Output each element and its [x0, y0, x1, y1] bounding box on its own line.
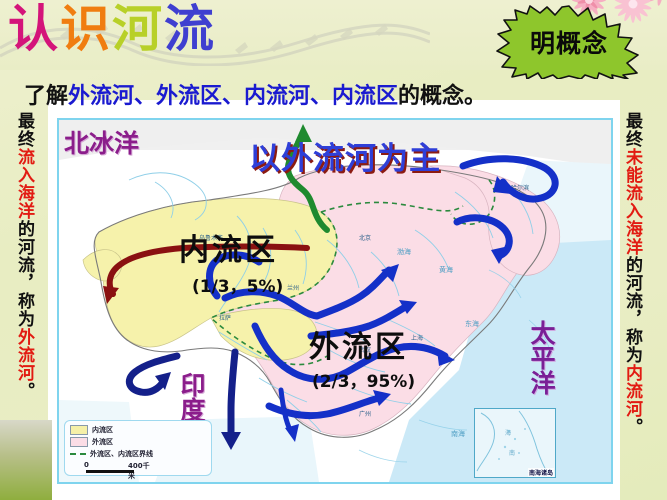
title-char-3: 河 — [112, 4, 164, 54]
caption-right-p3: 的河流，称为 — [622, 256, 642, 364]
caption-right-p4: 内流河 — [622, 364, 642, 418]
caption-exterior-river: 最终流入海洋的河流，称为外流河。 — [14, 112, 34, 494]
caption-right-p1: 最终 — [622, 112, 642, 148]
svg-text:渤海: 渤海 — [397, 247, 411, 256]
svg-text:拉萨: 拉萨 — [219, 314, 231, 322]
legend-label-boundary: 外流区、内流区界线 — [90, 449, 153, 459]
subtitle-objective: 了解外流河、外流区、内流河、内流区的概念。 — [24, 78, 486, 110]
legend-scale-numbers: 0 400千米 — [84, 461, 154, 473]
legend-item-boundary: 外流区、内流区界线 — [70, 449, 206, 458]
subtitle-highlight: 外流河、外流区、内流河、内流区 — [68, 84, 398, 109]
svg-text:南: 南 — [509, 449, 515, 457]
svg-text:武汉: 武汉 — [359, 346, 371, 354]
caption-left-p1: 最终 — [14, 112, 34, 148]
badge-ming-gainian[interactable]: 明概念 — [489, 5, 649, 79]
caption-left-p3: 的河流，称为 — [14, 220, 34, 328]
svg-text:东海: 东海 — [465, 319, 479, 328]
svg-text:黄海: 黄海 — [439, 265, 453, 274]
inset-graphic: 海 南 — [475, 409, 555, 477]
legend-dashed-line-icon — [70, 453, 86, 455]
caption-right-p2: 未能流入海洋 — [622, 148, 642, 256]
legend-label-interior: 内流区 — [92, 425, 113, 435]
svg-text:北京: 北京 — [359, 234, 371, 242]
caption-left-p5: 。 — [14, 382, 34, 400]
legend-item-interior: 内流区 — [70, 425, 206, 434]
svg-text:海: 海 — [505, 429, 511, 437]
caption-interior-river: 最终未能流入海洋的河流，称为内流河。 — [622, 112, 642, 494]
svg-text:广州: 广州 — [359, 410, 371, 418]
legend-swatch-exterior-icon — [70, 437, 88, 447]
legend-scale-bar: 0 400千米 — [70, 461, 206, 473]
badge-label: 明概念 — [489, 5, 649, 79]
title-char-4: 流 — [164, 4, 216, 54]
legend-scale-min: 0 — [84, 461, 89, 469]
page-title: 认识河流 — [8, 4, 216, 54]
map-inset-south-china-sea: 海 南 南海诸岛 — [474, 408, 556, 478]
china-river-map[interactable]: 北京 哈尔滨 武汉 上海 广州 拉萨 乌鲁木齐 兰州 渤海 黄海 东海 南海 — [57, 118, 613, 484]
caption-right-p5: 。 — [622, 418, 642, 436]
title-char-2: 识 — [60, 4, 112, 54]
svg-text:乌鲁木齐: 乌鲁木齐 — [199, 234, 223, 242]
svg-text:南海: 南海 — [451, 429, 465, 438]
legend-item-exterior: 外流区 — [70, 437, 206, 446]
legend-swatch-interior-icon — [70, 425, 88, 435]
title-char-1: 认 — [8, 4, 60, 54]
map-legend: 内流区 外流区 外流区、内流区界线 0 400千米 — [64, 420, 212, 476]
inset-caption: 南海诸岛 — [528, 468, 554, 477]
caption-left-p4: 外流河 — [14, 328, 34, 382]
subtitle-lead: 了解 — [24, 84, 68, 109]
legend-scale-rule-icon — [86, 470, 134, 473]
legend-label-exterior: 外流区 — [92, 437, 113, 447]
caption-left-p2: 流入海洋 — [14, 148, 34, 220]
subtitle-tail: 的概念。 — [398, 84, 486, 109]
svg-text:兰州: 兰州 — [287, 284, 299, 292]
svg-text:上海: 上海 — [411, 334, 423, 342]
